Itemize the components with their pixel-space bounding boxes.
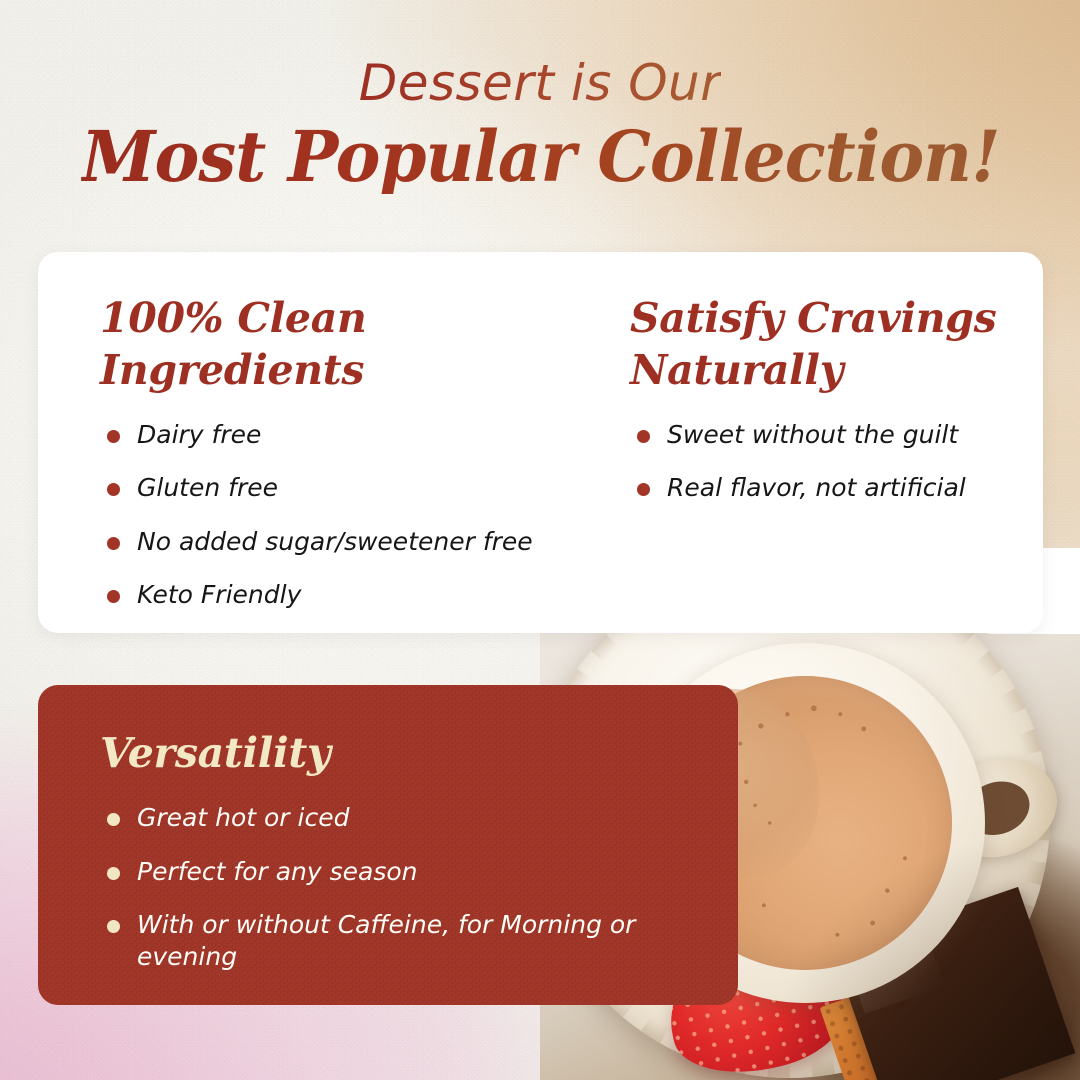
features-card: 100% Clean Ingredients Dairy free Gluten… xyxy=(38,252,1043,633)
bullet-list: Great hot or iced Perfect for any season… xyxy=(100,802,698,972)
bullet-list: Dairy free Gluten free No added sugar/sw… xyxy=(100,419,600,611)
list-item: With or without Caffeine, for Morning or… xyxy=(100,909,698,972)
versatility-card: Versatility Great hot or iced Perfect fo… xyxy=(38,685,738,1005)
versatility-content: Versatility Great hot or iced Perfect fo… xyxy=(100,731,698,972)
list-item: Sweet without the guilt xyxy=(630,419,1030,451)
list-item: Dairy free xyxy=(100,419,600,451)
list-item: Real flavor, not artificial xyxy=(630,472,1030,504)
list-item: Gluten free xyxy=(100,472,600,504)
bullet-list: Sweet without the guilt Real flavor, not… xyxy=(630,419,1030,504)
poster-canvas: Dessert is Our Most Popular Collection! … xyxy=(0,0,1080,1080)
features-column-satisfy-cravings: Satisfy Cravings Naturally Sweet without… xyxy=(630,292,1030,504)
headline-block: Dessert is Our Most Popular Collection! xyxy=(0,58,1080,194)
features-column-clean-ingredients: 100% Clean Ingredients Dairy free Gluten… xyxy=(100,292,600,611)
list-item: No added sugar/sweetener free xyxy=(100,526,600,558)
headline-line-2: Most Popular Collection! xyxy=(81,120,999,194)
headline-line-1: Dessert is Our xyxy=(359,58,722,108)
list-item: Perfect for any season xyxy=(100,856,698,888)
list-item: Great hot or iced xyxy=(100,802,698,834)
column-title: Satisfy Cravings Naturally xyxy=(630,292,1030,397)
column-title: 100% Clean Ingredients xyxy=(100,292,600,397)
versatility-title: Versatility xyxy=(100,731,698,776)
list-item: Keto Friendly xyxy=(100,579,600,611)
